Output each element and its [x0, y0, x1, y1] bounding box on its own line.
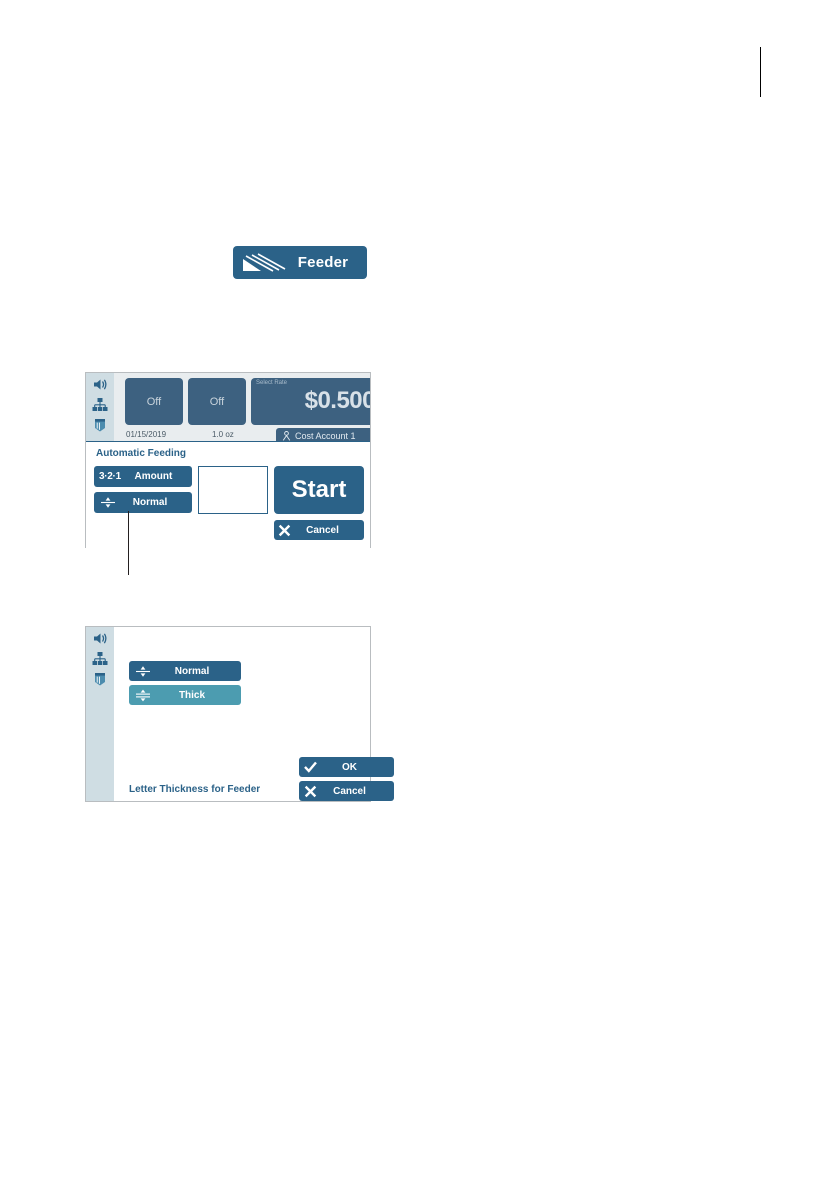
cancel-button[interactable]: Cancel — [299, 781, 394, 801]
speaker-icon[interactable] — [91, 376, 109, 393]
ink-cartridge-icon[interactable] — [91, 670, 109, 687]
cancel-button-label: Cancel — [317, 786, 394, 797]
ink-cartridge-icon[interactable] — [91, 416, 109, 433]
feeder-button-label: Feeder — [289, 254, 367, 271]
letter-thickness-value: Normal — [116, 497, 192, 508]
start-button[interactable]: Start — [274, 466, 364, 514]
speaker-icon[interactable] — [91, 630, 109, 647]
dialog-title: Automatic Feeding — [96, 448, 186, 459]
cancel-button-label: Cancel — [291, 525, 364, 536]
letter-thickness-screen: Normal Thick Letter Thickness for Feeder… — [85, 626, 371, 802]
select-rate-value: $0.500 — [257, 387, 370, 415]
status-tile-2[interactable]: Off — [188, 378, 246, 425]
status-tile-1[interactable]: Off — [125, 378, 183, 425]
feeder-button[interactable]: Feeder — [233, 246, 367, 279]
option-thick[interactable]: Thick — [129, 685, 241, 705]
person-icon — [282, 431, 291, 441]
screen-one-status-area: Off Off Select Rate $0.500 01/15/2019 1.… — [86, 373, 370, 446]
cancel-button[interactable]: Cancel — [274, 520, 364, 540]
option-normal[interactable]: Normal — [129, 661, 241, 681]
network-icon[interactable] — [91, 396, 109, 413]
screen-two-icon-rail — [86, 627, 114, 801]
feeder-lines-icon — [241, 252, 289, 274]
amount-button[interactable]: 3·2·1 Amount — [94, 466, 192, 487]
amount-digits: 3·2·1 — [99, 471, 121, 482]
cost-account-label: Cost Account 1 — [295, 431, 356, 441]
letter-thickness-normal-icon — [135, 665, 151, 678]
weight-text: 1.0 oz — [212, 430, 234, 439]
select-rate-caption: Select Rate — [256, 380, 287, 386]
select-rate-tile[interactable]: Select Rate $0.500 — [251, 378, 370, 425]
page-margin-rule — [760, 47, 761, 97]
date-text: 01/15/2019 — [126, 430, 166, 439]
x-icon — [304, 785, 317, 798]
option-thick-label: Thick — [151, 690, 241, 701]
ok-button[interactable]: OK — [299, 757, 394, 777]
letter-thickness-icon — [100, 496, 116, 509]
letter-thickness-title: Letter Thickness for Feeder — [129, 784, 260, 795]
amount-label: Amount — [121, 471, 192, 482]
letter-thickness-thick-icon — [135, 689, 151, 702]
callout-leader-line — [128, 511, 129, 575]
start-button-label: Start — [292, 476, 347, 504]
network-icon[interactable] — [91, 650, 109, 667]
amount-entry-field[interactable] — [198, 466, 268, 514]
letter-thickness-body: Normal Thick Letter Thickness for Feeder… — [114, 627, 370, 801]
check-icon — [304, 761, 317, 774]
x-icon — [278, 524, 291, 537]
ok-button-label: OK — [317, 762, 394, 773]
status-tile-1-label: Off — [147, 396, 161, 408]
letter-thickness-button[interactable]: Normal — [94, 492, 192, 513]
screen-one-icon-rail — [86, 373, 114, 446]
status-tile-2-label: Off — [210, 396, 224, 408]
option-normal-label: Normal — [151, 666, 241, 677]
